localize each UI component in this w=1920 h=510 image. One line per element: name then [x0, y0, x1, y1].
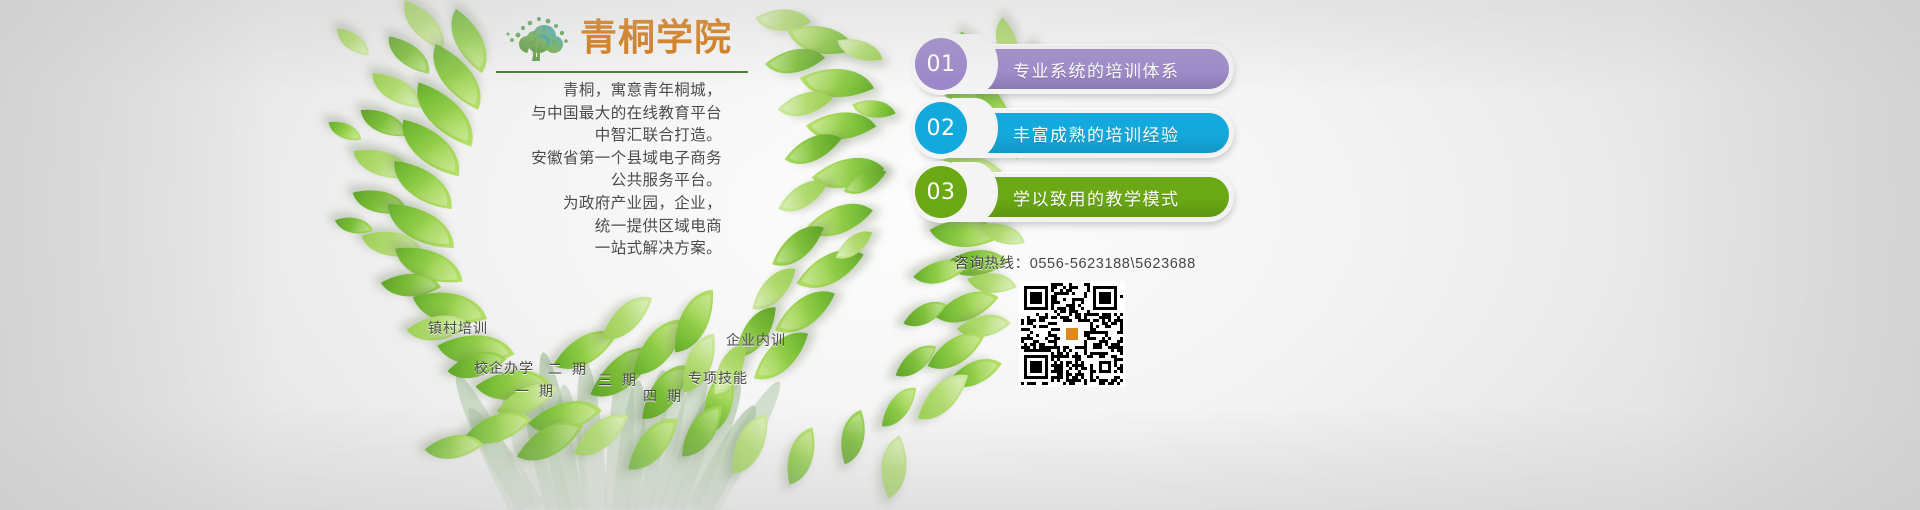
leaf-shape — [371, 73, 422, 108]
logo-divider — [496, 71, 748, 73]
qr-code — [1019, 281, 1125, 387]
category-label: 专项技能 — [688, 368, 748, 388]
category-label: 镇村培训 — [428, 318, 488, 338]
leaf-shape — [918, 366, 968, 428]
tree-icon — [496, 9, 576, 65]
feature-pill-03[interactable]: 学以致用的教学模式03 — [916, 172, 1234, 222]
phase-label: 四 期 — [643, 386, 684, 406]
description-line: 与中国最大的在线教育平台 — [460, 103, 722, 126]
logo-title: 青桐学院 — [580, 19, 732, 56]
leaf-shape — [866, 435, 923, 498]
phase-label: 二 期 — [548, 359, 589, 379]
leaf-shape — [628, 412, 677, 476]
feature-number-badge: 01 — [915, 38, 967, 90]
description-text: 青桐，寓意青年桐城，与中国最大的在线教育平台中智汇联合打造。安徽省第一个县域电子… — [460, 80, 722, 261]
leaf-shape — [361, 106, 407, 140]
description-line: 青桐，寓意青年桐城， — [460, 80, 722, 103]
category-label: 企业内训 — [726, 330, 786, 350]
feature-pill-01[interactable]: 专业系统的培训体系01 — [916, 44, 1234, 94]
logo-block: 青桐学院 — [496, 8, 748, 73]
banner-root: 青桐学院 青桐，寓意青年桐城，与中国最大的在线教育平台中智汇联合打造。安徽省第一… — [0, 0, 1920, 510]
description-line: 公共服务平台。 — [460, 170, 722, 193]
phase-label: 一 期 — [515, 381, 556, 401]
feature-label: 丰富成熟的培训经验 — [1013, 121, 1180, 146]
feature-label: 学以致用的教学模式 — [1013, 185, 1180, 210]
feature-number-badge: 03 — [915, 166, 967, 218]
description-line: 统一提供区域电商 — [460, 216, 722, 239]
leaf-shape — [335, 28, 371, 55]
description-line: 安徽省第一个县域电子商务 — [460, 148, 722, 171]
leaf-shape — [682, 404, 722, 457]
leaf-shape — [882, 385, 916, 430]
hotline-text: 咨询热线：0556-5623188\5623688 — [916, 252, 1234, 273]
feature-list: 专业系统的培训体系01丰富成熟的培训经验02学以致用的教学模式03 — [916, 44, 1234, 236]
leaf-shape — [727, 414, 773, 474]
leaf-shape — [829, 410, 877, 465]
phase-label: 三 期 — [598, 370, 639, 390]
description-line: 一站式解决方案。 — [460, 238, 722, 261]
logo-row: 青桐学院 — [496, 8, 748, 66]
leaf-shape — [777, 427, 824, 484]
description-line: 中智汇联合打造。 — [460, 125, 722, 148]
leaf-shape — [329, 118, 362, 144]
category-label: 校企办学 — [474, 358, 534, 378]
description-line: 为政府产业园，企业， — [460, 193, 722, 216]
feature-number-badge: 02 — [915, 102, 967, 154]
feature-pill-02[interactable]: 丰富成熟的培训经验02 — [916, 108, 1234, 158]
feature-label: 专业系统的培训体系 — [1013, 57, 1180, 82]
